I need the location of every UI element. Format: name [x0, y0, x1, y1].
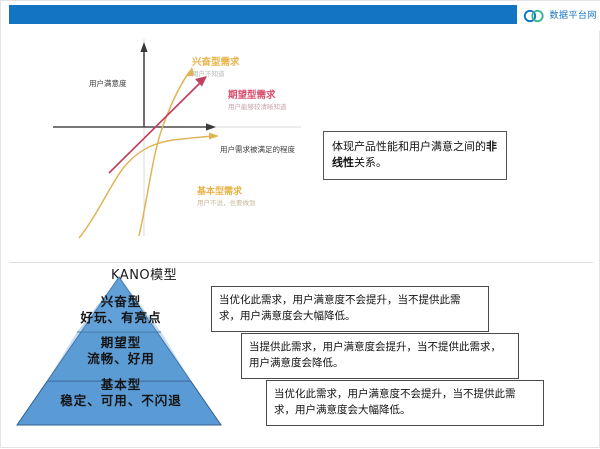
- brand-name: 数据平台网: [549, 8, 597, 21]
- header-blue-bar: [9, 5, 557, 24]
- callout-basic: 当优化此需求，用户满意度不会提升，当不提供此需求，用户满意度会大幅降低。: [266, 380, 544, 426]
- page-header: 数据平台网: [1, 1, 600, 31]
- kano-chart-graphic: [1, 31, 600, 257]
- excitement-curve: [139, 71, 190, 236]
- y-axis-label: 用户满意度: [89, 79, 127, 88]
- non-linear-note: 体现产品性能和用户满意之间的非线性关系。: [323, 131, 507, 180]
- section-divider: [9, 262, 593, 263]
- kano-chart: 用户满意度 用户需求被满足的程度 兴奋型需求 用户不知道 期望型需求 用户能够较…: [1, 31, 600, 257]
- infinity-loop-icon: [523, 8, 545, 22]
- basic-curve-arrow: [209, 133, 219, 140]
- note-text-before: 体现产品性能和用户满意之间的: [332, 140, 486, 153]
- pyramid-graphic: [13, 273, 223, 431]
- basic-needs-subtitle: 用户不说，也要做到: [197, 199, 256, 207]
- note-text-after: 关系。: [354, 156, 387, 169]
- pyramid-tier-middle: [47, 332, 191, 381]
- basic-curve: [79, 136, 213, 238]
- x-axis-label: 用户需求被满足的程度: [220, 145, 295, 154]
- excitement-needs-subtitle: 用户不知道: [192, 70, 240, 78]
- callout-expected: 当提供此需求，用户满意度会提升，当不提供此需求，用户满意度会降低。: [241, 333, 519, 379]
- x-axis-arrow: [206, 123, 216, 130]
- excitement-needs-title: 兴奋型需求: [192, 57, 240, 69]
- needs-pyramid: 兴奋型 好玩、有亮点 期望型 流畅、好用 基本型 稳定、可用、不闪退 当优化此需…: [1, 267, 600, 449]
- basic-needs-title: 基本型需求: [197, 187, 256, 198]
- brand-logo: 数据平台网: [517, 4, 597, 25]
- basic-needs-label: 基本型需求 用户不说，也要做到: [197, 187, 256, 207]
- pyramid-tier-top: [77, 277, 161, 332]
- expected-needs-subtitle: 用户能够较清晰知道: [228, 103, 287, 111]
- y-axis-arrow: [140, 42, 147, 52]
- expected-needs-label: 期望型需求 用户能够较清晰知道: [228, 90, 287, 111]
- callout-excitement: 当优化此需求，用户满意度不会提升，当不提供此需求，用户满意度会大幅降低。: [211, 286, 489, 332]
- excitement-needs-label: 兴奋型需求 用户不知道: [192, 57, 240, 78]
- expected-needs-title: 期望型需求: [228, 90, 287, 102]
- slide-page: 数据平台网 用户满意度 用户需求被满足的程度: [0, 0, 600, 448]
